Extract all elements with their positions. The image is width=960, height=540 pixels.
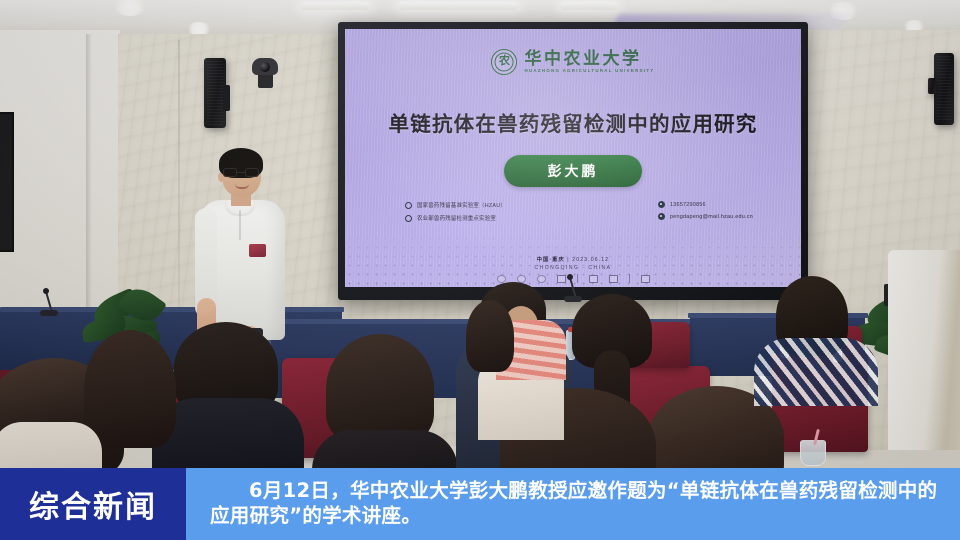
news-category-text: 综合新闻 [29,482,157,526]
audience-member [160,322,292,478]
glasses-lens-left [223,168,237,177]
speaker-grille [937,56,951,122]
news-broadcast-screenshot: 农 华中农业大学 HUAZHONG AGRICULTURAL UNIVERSIT… [0,0,960,540]
speaker-grille [207,61,223,125]
audience-member [0,356,80,476]
audience-torso-patterned [754,338,878,406]
speaker-mount-right [928,78,936,94]
news-caption-bar: 综合新闻 6月12日，华中农业大学彭大鹏教授应邀作题为“单链抗体在兽药残留检测中… [0,468,960,540]
mic-base [40,310,58,316]
contact-phone-text: 13657290856 [670,202,706,208]
audience-member [466,300,514,380]
university-name-cn: 华中农业大学 [524,50,654,67]
affiliation-row: 国家兽药残留基准实验室（HZAU） [405,201,506,209]
mic-head [43,288,49,294]
ceiling-light-slot [300,2,370,10]
slide-title: 单链抗体在兽药残留检测中的应用研究 [345,107,801,137]
university-logo-text: 华中农业大学 HUAZHONG AGRICULTURAL UNIVERSITY [524,50,654,73]
lecture-room-scene: 农 华中农业大学 HUAZHONG AGRICULTURAL UNIVERSIT… [0,0,960,540]
mail-icon [658,213,665,220]
wall-speaker-left [204,58,226,128]
monitor-icon[interactable] [557,275,566,283]
wall-speaker-right [934,53,954,125]
university-name-en: HUAZHONG AGRICULTURAL UNIVERSITY [524,69,654,73]
slide-contacts: 国家兽药残留基准实验室（HZAU） 农业部兽药残留检测重点实验室 1365729… [405,201,753,222]
wall-picture-frame [0,112,14,252]
phone-icon [658,201,665,208]
affiliation-text: 农业部兽药残留检测重点实验室 [417,214,496,222]
audience-hair [466,300,514,372]
seal-mark: 农 [499,56,510,67]
glasses-lens-right [245,168,259,177]
glasses-bridge [237,172,245,173]
ceiling-light-slot [398,2,518,10]
affiliation-row: 农业部兽药残留检测重点实验室 [405,214,506,222]
contact-row-phone: 13657290856 [658,201,753,208]
audience-hair [84,330,176,448]
audience-member [84,330,176,450]
affiliation-column: 国家兽药残留基准实验室（HZAU） 农业部兽药残留检测重点实验室 [405,201,506,222]
drink-cup [800,440,826,466]
bullet-ring-icon [405,215,412,222]
notes-icon[interactable] [589,275,598,283]
more-options-icon[interactable] [641,275,650,283]
university-logo: 农 华中农业大学 HUAZHONG AGRICULTURAL UNIVERSIT… [345,49,801,75]
toolbar-divider [629,274,630,283]
audience-hair [326,334,434,444]
toolbar-divider [577,274,578,283]
contact-column: 13657290856 pengdapeng@mail.hzau.edu.cn [658,201,753,222]
presenter-placket [239,210,241,240]
white-podium [888,250,960,450]
ceiling-light-slot [560,2,618,10]
news-category-label: 综合新闻 [0,468,186,540]
speaker-mount [223,85,230,111]
mic-head [567,274,573,280]
slide-player-toolbar[interactable] [345,274,801,283]
affiliation-text: 国家兽药残留基准实验室（HZAU） [417,201,506,209]
ptz-camera [252,58,278,88]
presenter-glasses [223,168,259,177]
speaker-name-badge: 彭大鹏 [504,155,642,187]
contact-email-text: pengdapeng@mail.hzau.edu.cn [670,214,753,220]
university-seal-icon: 农 [491,49,517,75]
bullet-ring-icon [405,202,412,209]
camera-lens-icon [260,62,270,72]
presenter-name-badge [249,244,266,257]
news-caption-body: 6月12日，华中农业大学彭大鹏教授应邀作题为“单链抗体在兽药残留检测中的应用研究… [186,468,960,540]
news-caption-text: 6月12日，华中农业大学彭大鹏教授应邀作题为“单链抗体在兽药残留检测中的应用研究… [210,478,944,529]
contact-row-email: pengdapeng@mail.hzau.edu.cn [658,213,753,220]
fullscreen-icon[interactable] [609,275,618,283]
presentation-slide: 农 华中农业大学 HUAZHONG AGRICULTURAL UNIVERSIT… [345,29,801,287]
audience-member [316,334,448,482]
audience-member [760,276,870,402]
